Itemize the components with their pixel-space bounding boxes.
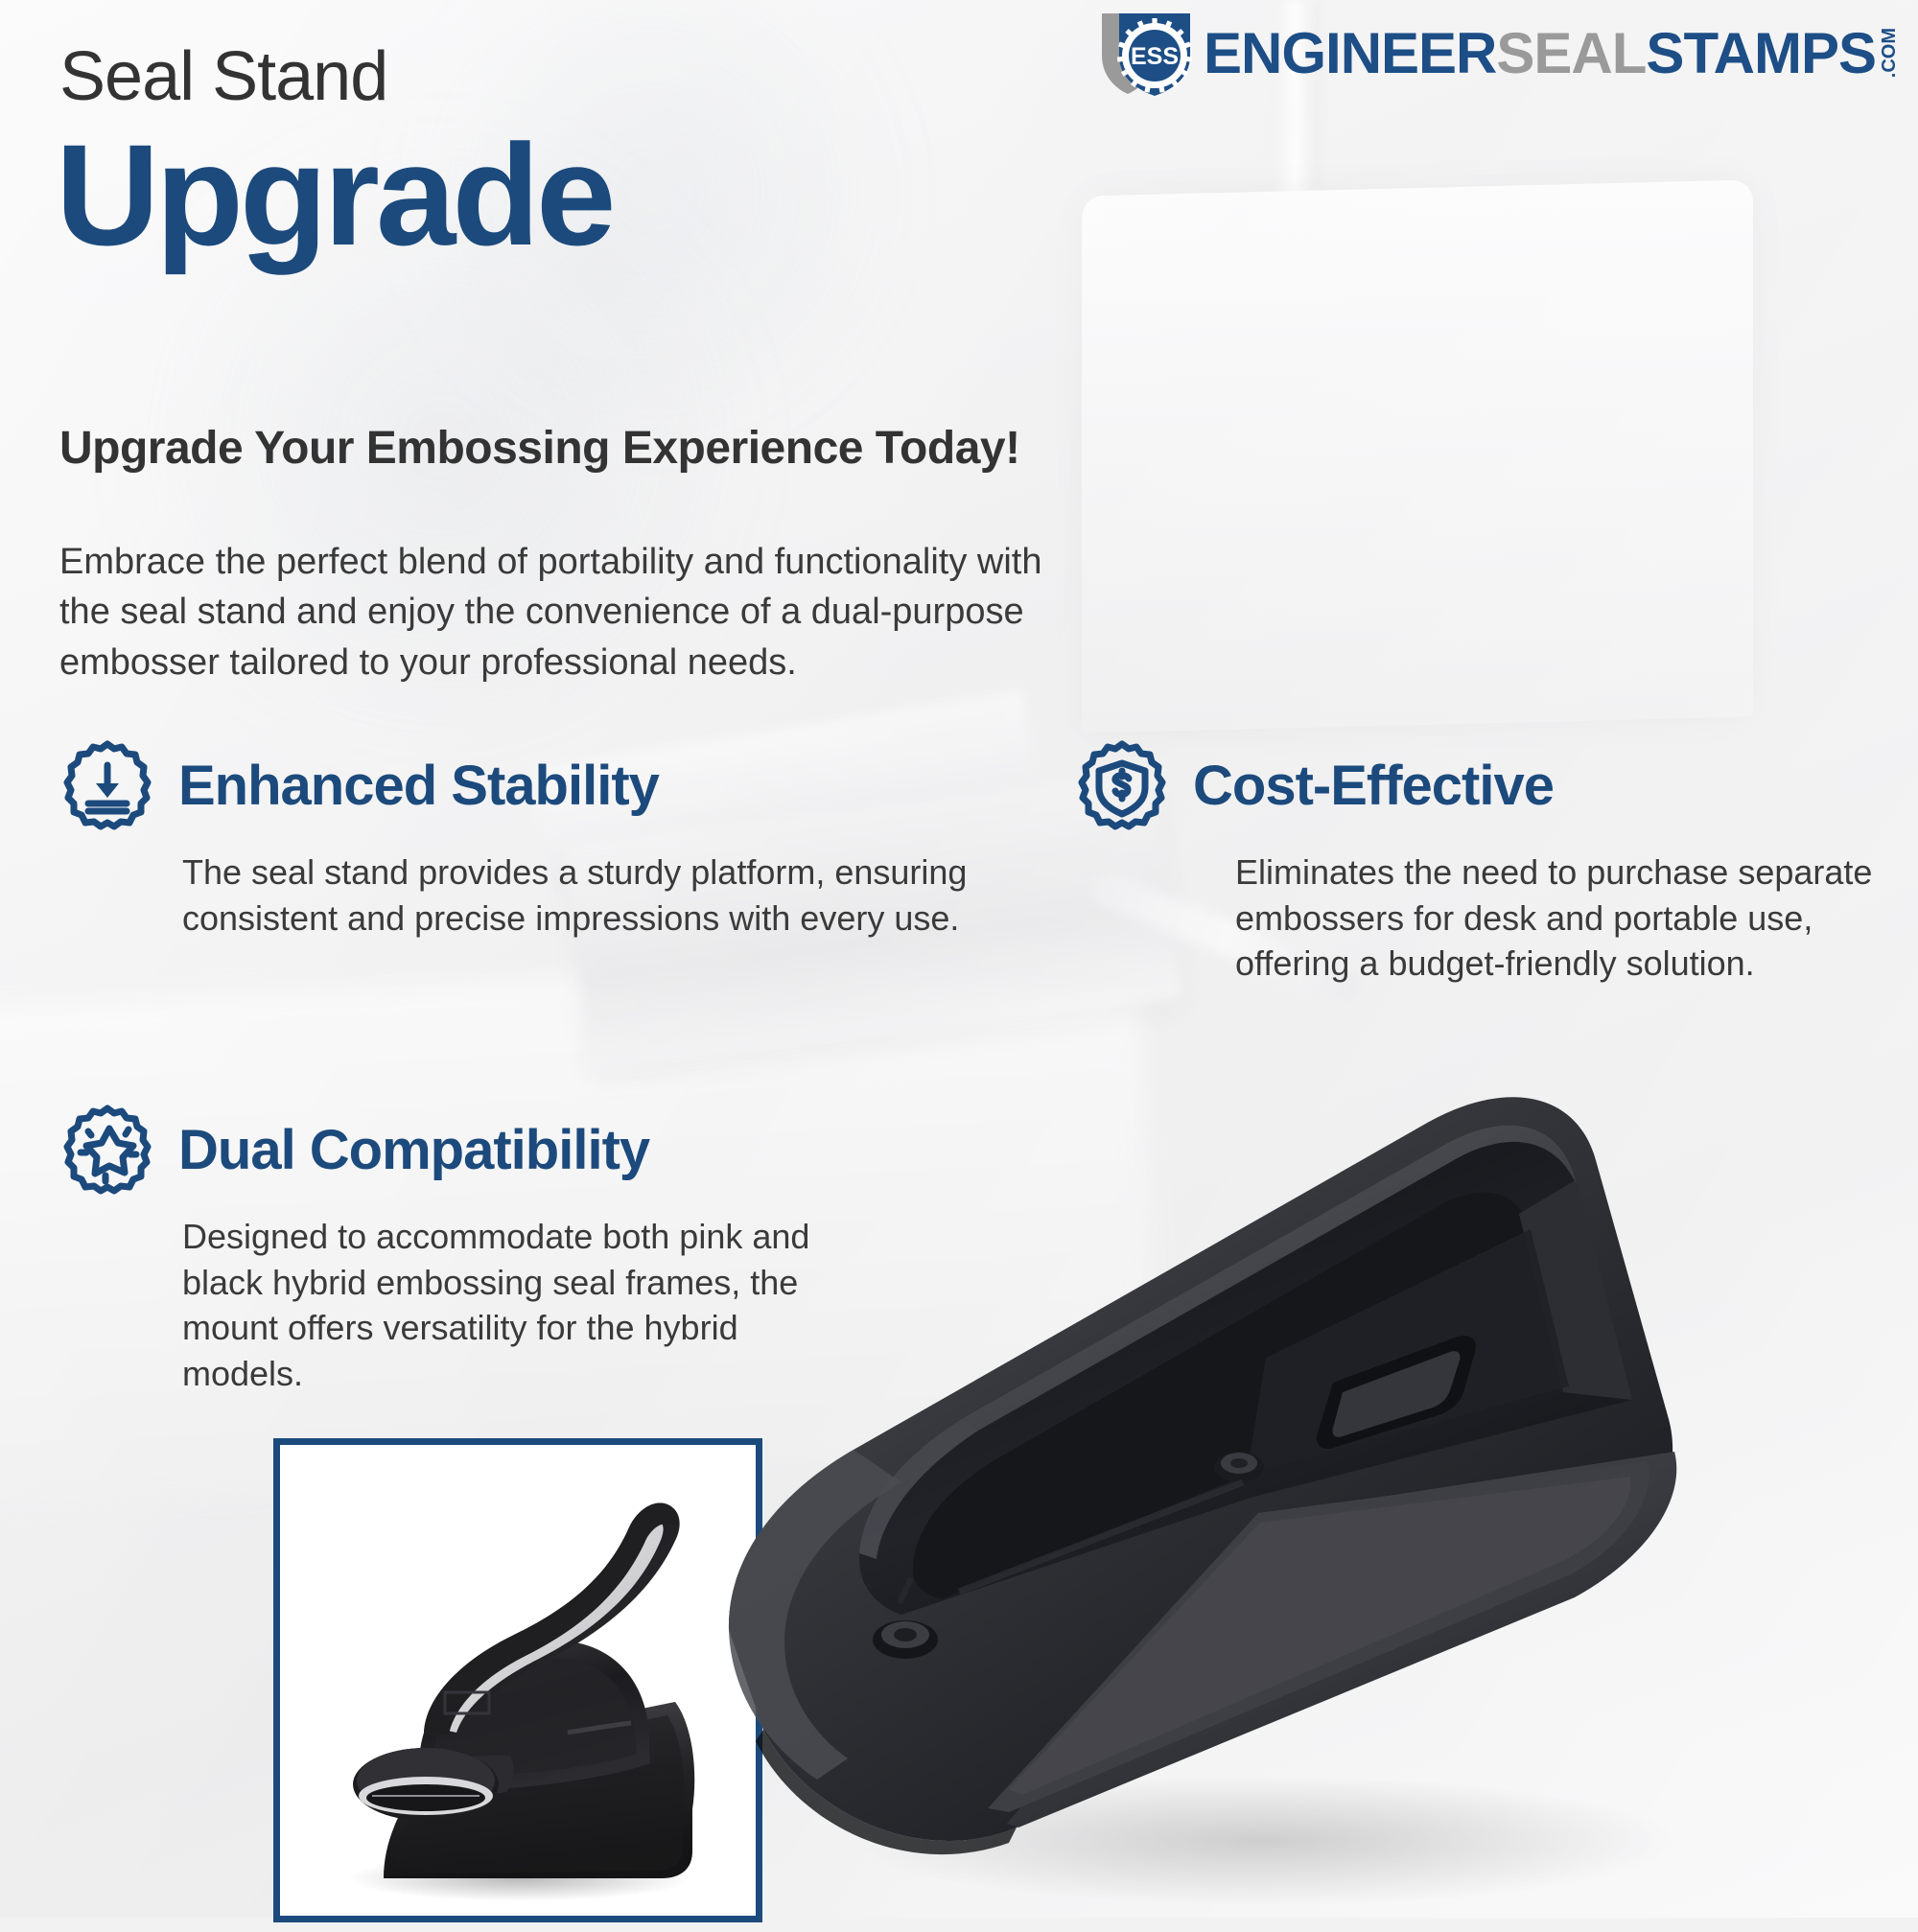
wordmark-engineer: ENGINEER: [1204, 25, 1496, 82]
press-down-badge-icon: [59, 738, 155, 834]
hero-product-image: [671, 1016, 1918, 1927]
subheading: Upgrade Your Embossing Experience Today!: [59, 422, 1020, 475]
ess-initials: ESS: [1131, 43, 1179, 70]
seal-stand-illustration: [671, 1016, 1918, 1927]
feature-title: Enhanced Stability: [178, 758, 659, 814]
wordmark-stamps: STAMPS: [1646, 25, 1876, 82]
page-title: Upgrade: [56, 123, 612, 267]
feature-enhanced-stability: Enhanced Stability The seal stand provid…: [59, 738, 1038, 941]
page-kicker: Seal Stand: [59, 42, 387, 111]
feature-body: Eliminates the need to purchase separate…: [1235, 850, 1897, 987]
ess-shield-gear-icon: ESS: [1094, 8, 1198, 100]
brand-wordmark: ENGINEERSEALSTAMPS .COM: [1204, 25, 1901, 82]
feature-cost-effective: Cost-Effective Eliminates the need to pu…: [1074, 738, 1899, 987]
feature-header: Cost-Effective: [1074, 738, 1899, 834]
feature-body: The seal stand provides a sturdy platfor…: [182, 850, 1026, 941]
feature-header: Enhanced Stability: [59, 738, 1038, 834]
feature-title: Dual Compatibility: [178, 1123, 649, 1178]
brand-logo[interactable]: ESS ENGINEERSEALSTAMPS .COM: [1094, 6, 1901, 102]
infographic-content: ESS ENGINEERSEALSTAMPS .COM Seal Stand U…: [0, 0, 1918, 1918]
shield-dollar-badge-icon: [1074, 738, 1170, 834]
feature-title: Cost-Effective: [1193, 758, 1554, 814]
wordmark-seal: SEAL: [1496, 25, 1646, 82]
wordmark-tld: .COM: [1879, 28, 1901, 78]
sparkle-star-badge-icon: [59, 1103, 155, 1199]
intro-paragraph: Embrace the perfect blend of portability…: [59, 537, 1057, 687]
